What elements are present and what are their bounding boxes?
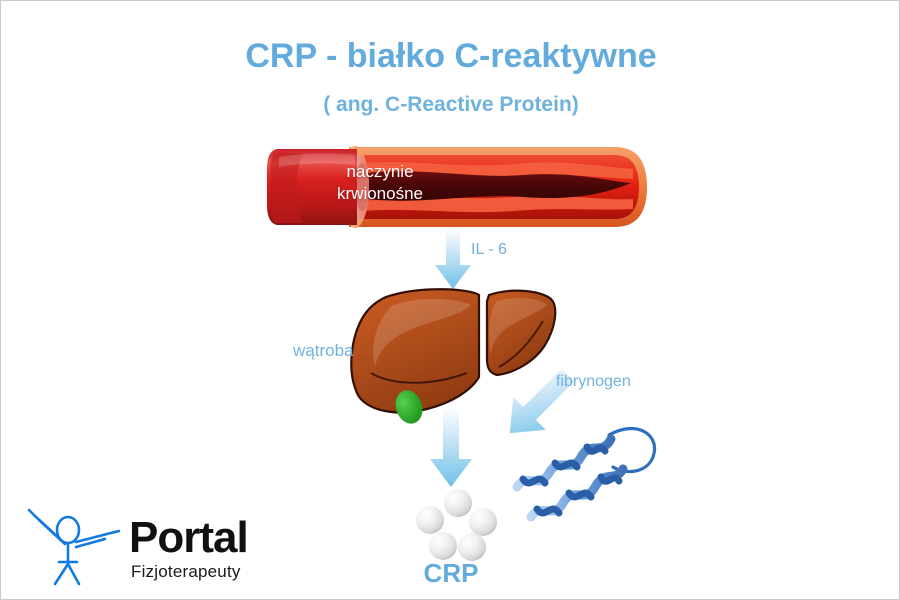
page-subtitle: ( ang. C-Reactive Protein) xyxy=(1,93,900,117)
crp-spheres-svg xyxy=(413,489,503,561)
crp-sphere xyxy=(469,508,497,536)
crp-sphere xyxy=(416,506,444,534)
fibrinogen-label: fibrynogen xyxy=(556,373,631,391)
crp-sphere xyxy=(458,533,486,561)
logo[interactable]: Portal Fizjoterapeuty xyxy=(19,506,259,588)
il6-label: IL - 6 xyxy=(471,241,507,259)
vessel-label-line1: naczynie xyxy=(305,161,455,183)
fibrinogen-loop xyxy=(609,429,655,472)
stick-figure-icon xyxy=(19,506,127,584)
crp-pentamer xyxy=(413,489,503,561)
logo-tagline: Fizjoterapeuty xyxy=(131,562,241,582)
crp-arrow xyxy=(429,407,479,489)
blood-vessel-illustration: naczynie krwionośne xyxy=(263,139,649,235)
fibrinogen-svg xyxy=(513,413,663,523)
page-title: CRP - białko C-reaktywne xyxy=(1,37,900,76)
crp-sphere xyxy=(429,532,457,560)
vessel-label: naczynie krwionośne xyxy=(305,161,455,205)
crp-sphere xyxy=(444,489,472,517)
infographic-canvas: CRP - białko C-reaktywne ( ang. C-Reacti… xyxy=(0,0,900,600)
liver-label: wątroba xyxy=(293,341,353,361)
vessel-label-line2: krwionośne xyxy=(305,183,455,205)
fibrinogen-illustration xyxy=(513,413,663,523)
logo-brand: Portal xyxy=(129,516,248,560)
